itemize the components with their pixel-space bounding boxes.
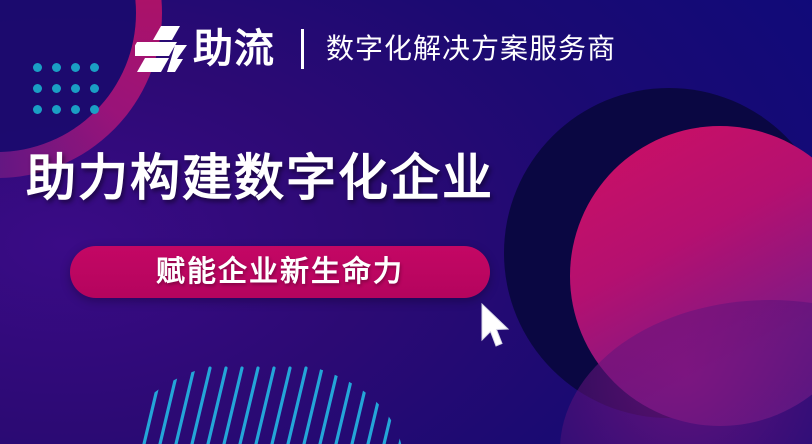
grid-dot xyxy=(90,105,99,114)
dot-grid-icon xyxy=(33,63,109,126)
grid-dot xyxy=(33,105,42,114)
vertical-divider xyxy=(301,29,304,69)
promo-banner: 助流 数字化解决方案服务商 助力构建数字化企业 赋能企业新生命力 xyxy=(0,0,812,444)
brand-header: 助流 数字化解决方案服务商 xyxy=(135,22,616,76)
grid-dot xyxy=(90,84,99,93)
grid-dot xyxy=(90,63,99,72)
grid-dot xyxy=(71,63,80,72)
grid-dot xyxy=(33,84,42,93)
grid-dot xyxy=(52,63,61,72)
grid-dot xyxy=(33,63,42,72)
cta-pill-label: 赋能企业新生命力 xyxy=(156,258,404,287)
logo-wordmark: 助流 xyxy=(193,29,275,69)
page-title: 助力构建数字化企业 xyxy=(26,152,494,205)
grid-dot xyxy=(71,84,80,93)
grid-dot xyxy=(52,84,61,93)
diagonal-fan-lines-icon xyxy=(110,352,410,444)
flow-lightning-icon xyxy=(135,25,189,73)
grid-dot xyxy=(71,105,80,114)
cta-pill-button[interactable]: 赋能企业新生命力 xyxy=(70,246,490,298)
grid-dot xyxy=(52,105,61,114)
brand-tagline: 数字化解决方案服务商 xyxy=(326,35,616,63)
